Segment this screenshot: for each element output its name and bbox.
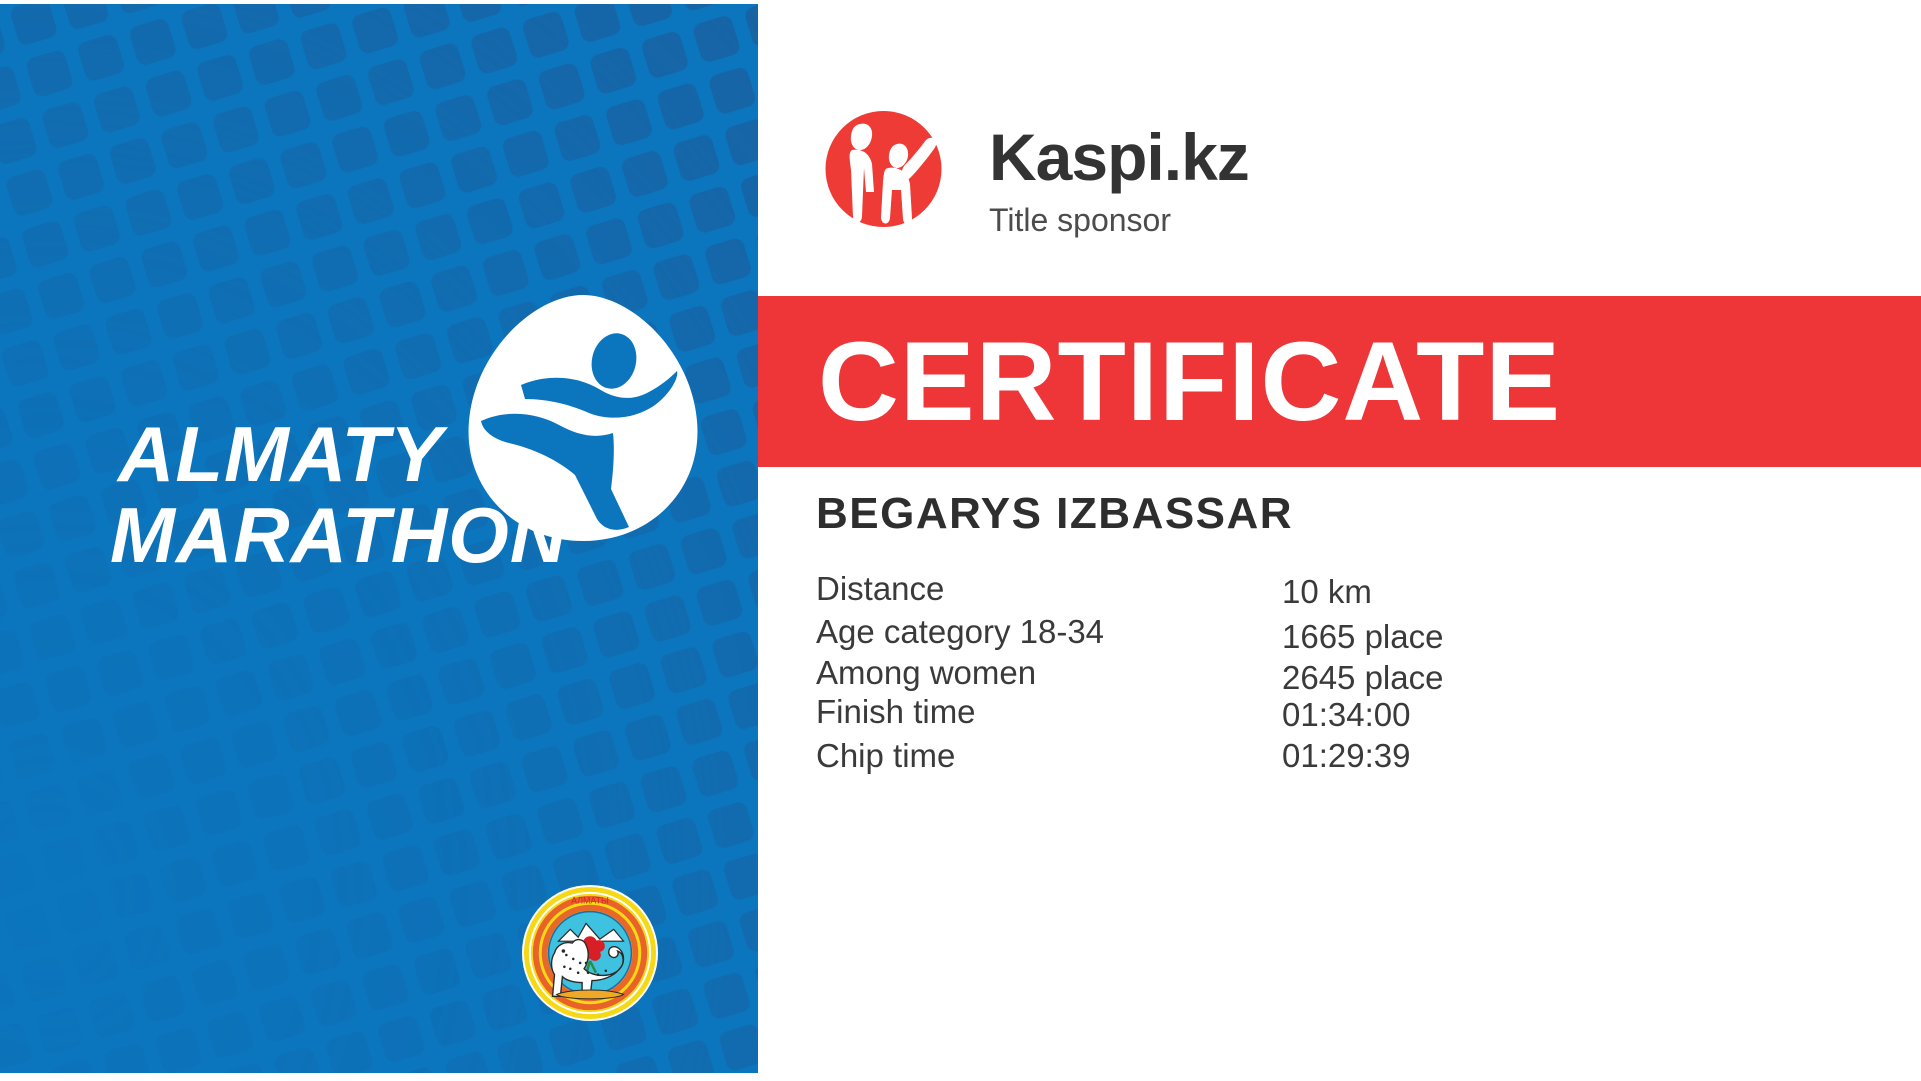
sponsor-text-block: Kaspi.kz Title sponsor bbox=[989, 104, 1249, 236]
detail-value-chip-time: 01:29:39 bbox=[1282, 739, 1410, 772]
emblem-script: АЛМАТЫ bbox=[571, 896, 609, 906]
brand-line-almaty: ALMATY bbox=[118, 417, 588, 492]
detail-label-chip-time: Chip time bbox=[816, 739, 955, 772]
detail-label-distance: Distance bbox=[816, 572, 944, 605]
detail-row: Age category 18-34 1665 place bbox=[816, 615, 1816, 656]
detail-label-finish-time: Finish time bbox=[816, 695, 976, 728]
detail-label-age-category: Age category 18-34 bbox=[816, 615, 1104, 648]
almaty-coat-of-arms-icon: АЛМАТЫ bbox=[521, 884, 659, 1022]
detail-row: Chip time 01:29:39 bbox=[816, 739, 1816, 783]
sponsor-name: Kaspi.kz bbox=[989, 124, 1249, 190]
detail-value-distance: 10 km bbox=[1282, 575, 1372, 608]
svg-text:АЛМАТЫ: АЛМАТЫ bbox=[571, 896, 609, 906]
detail-row: Distance 10 km bbox=[816, 572, 1816, 615]
brand-line-marathon: MARATHON bbox=[110, 498, 588, 573]
participant-name: BEGARYS IZBASSAR bbox=[816, 489, 1293, 539]
certificate-title: CERTIFICATE bbox=[818, 326, 1561, 438]
kaspi-people-circle-icon bbox=[816, 106, 951, 241]
detail-value-age-category-place: 1665 place bbox=[1282, 620, 1443, 653]
brand-panel: ALMATY MARATHON bbox=[0, 4, 758, 1073]
certificate-banner: CERTIFICATE bbox=[758, 296, 1921, 467]
almaty-marathon-logo: ALMATY MARATHON bbox=[118, 289, 698, 609]
certificate-content: Kaspi.kz Title sponsor BEGARYS IZBASSAR … bbox=[758, 0, 1921, 1081]
result-details-list: Distance 10 km Age category 18-34 1665 p… bbox=[816, 572, 1816, 783]
detail-value-finish-time: 01:34:00 bbox=[1282, 698, 1410, 731]
detail-row: Among women 2645 place bbox=[816, 656, 1816, 695]
detail-label-among-women: Among women bbox=[816, 656, 1036, 689]
almaty-marathon-wordmark: ALMATY MARATHON bbox=[118, 417, 588, 607]
sponsor-role: Title sponsor bbox=[989, 204, 1249, 236]
certificate-page: ALMATY MARATHON bbox=[0, 0, 1921, 1081]
detail-value-among-women-place: 2645 place bbox=[1282, 661, 1443, 694]
title-sponsor-block: Kaspi.kz Title sponsor bbox=[816, 104, 1249, 241]
detail-row: Finish time 01:34:00 bbox=[816, 695, 1816, 739]
